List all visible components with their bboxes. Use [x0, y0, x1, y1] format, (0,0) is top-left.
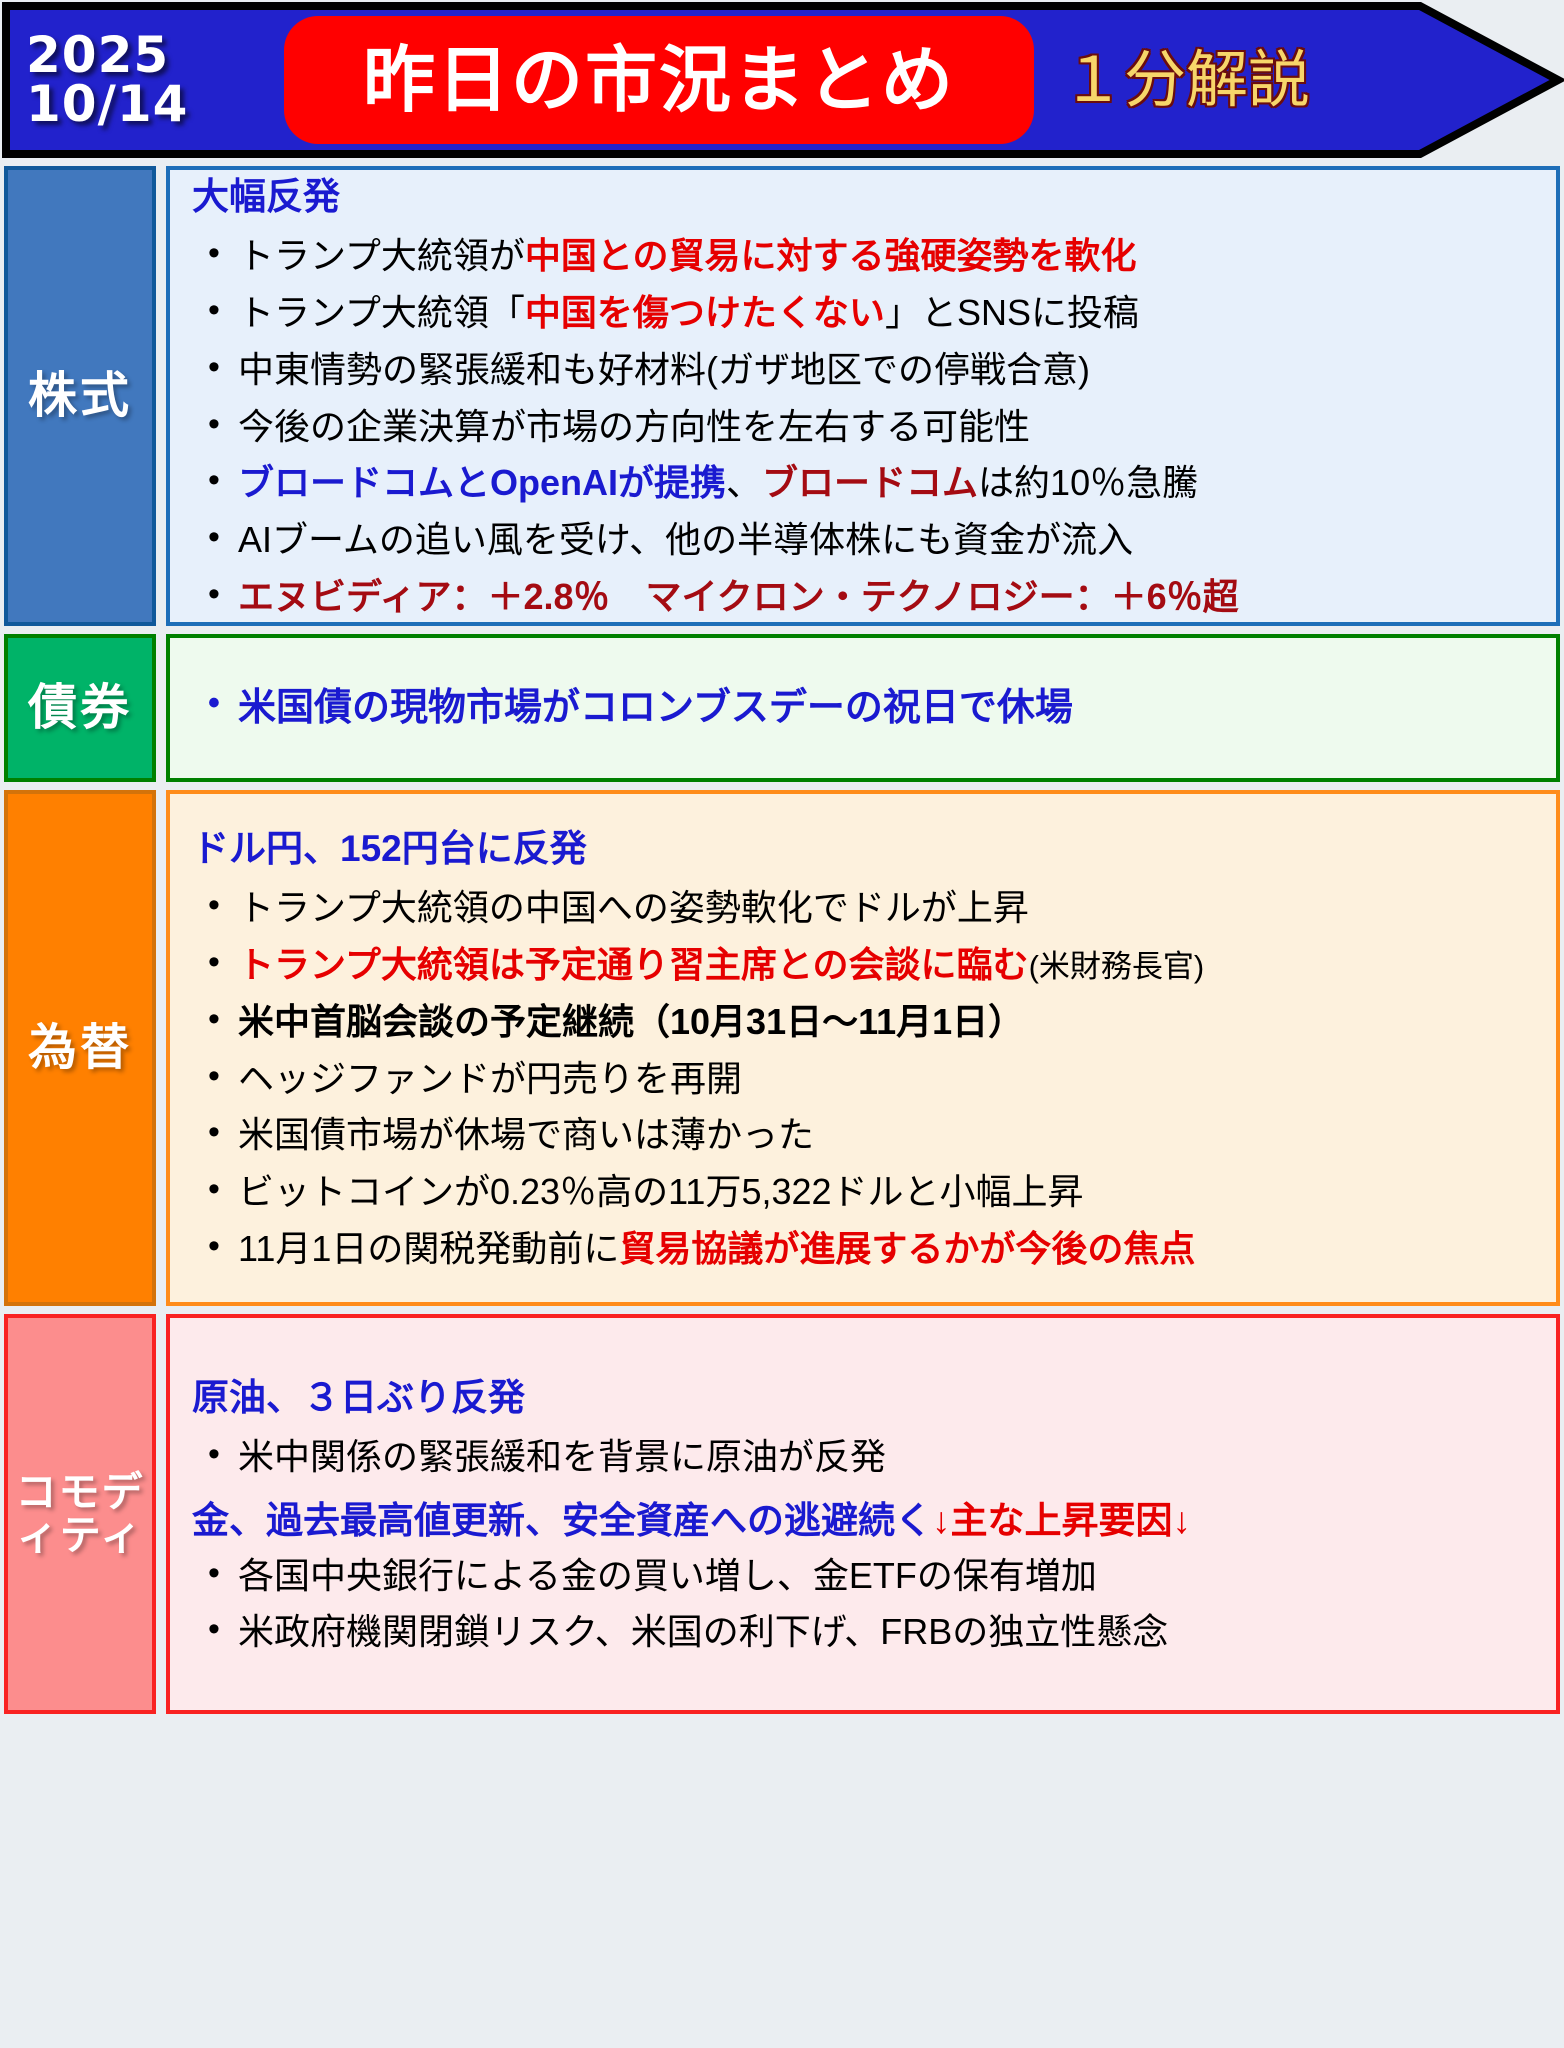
bullet-item: トランプ大統領「中国を傷つけたくない」とSNSに投稿 — [186, 285, 1542, 342]
section-headline-commodity: 原油、３日ぶり反発 — [186, 1367, 1542, 1421]
section-label-commodity-line2: ィティ — [17, 1511, 144, 1559]
bullet-item: 11月1日の関税発動前に貿易協議が進展するかが今後の焦点 — [186, 1221, 1542, 1278]
bullet-item: 米政府機関閉鎖リスク、米国の利下げ、FRBの独立性懸念 — [186, 1604, 1542, 1661]
bullet-item: 米国債市場が休場で商いは薄かった — [186, 1107, 1542, 1164]
bullet-text: 」とSNSに投稿 — [885, 292, 1139, 333]
section-commodity: コモデ ィティ 原油、３日ぶり反発 米中関係の緊張緩和を背景に原油が反発 金、過… — [0, 1314, 1564, 1714]
bullet-text: ヘッジファンドが円売りを再開 — [238, 1058, 742, 1099]
bullet-text: (米財務長官) — [1029, 949, 1205, 984]
bullet-item: ブロードコムとOpenAIが提携、ブロードコムは約10％急騰 — [186, 455, 1542, 512]
bullet-list-commodity-oil: 米中関係の緊張緩和を背景に原油が反発 — [186, 1429, 1542, 1486]
bullet-text: 中東情勢の緊張緩和も好材料(ガザ地区での停戦合意) — [238, 349, 1090, 390]
bullet-text: 米中関係の緊張緩和を背景に原油が反発 — [238, 1436, 886, 1477]
section-label-fx: 為替 — [4, 790, 156, 1306]
header-date-year: 2025 — [26, 31, 280, 81]
bullet-text: トランプ大統領の中国への姿勢軟化でドルが上昇 — [238, 887, 1029, 928]
section-stocks: 株式 大幅反発 トランプ大統領が中国との貿易に対する強硬姿勢を軟化トランプ大統領… — [0, 166, 1564, 626]
bullet-item: エヌビディア：＋2.8％ マイクロン・テクノロジー：＋6％超 — [186, 569, 1542, 626]
bullet-text: エヌビディア：＋2.8％ マイクロン・テクノロジー：＋6％超 — [238, 576, 1239, 617]
header-title-pill: 昨日の市況まとめ — [284, 16, 1034, 144]
section-body-commodity: 原油、３日ぶり反発 米中関係の緊張緩和を背景に原油が反発 金、過去最高値更新、安… — [166, 1314, 1560, 1714]
section-bonds: 債券 米国債の現物市場がコロンブスデーの祝日で休場 — [0, 634, 1564, 782]
bullet-list-commodity-gold: 各国中央銀行による金の買い増し、金ETFの保有増加米政府機関閉鎖リスク、米国の利… — [186, 1548, 1542, 1662]
bullet-item: トランプ大統領が中国との貿易に対する強硬姿勢を軟化 — [186, 228, 1542, 285]
bullet-item: 米中関係の緊張緩和を背景に原油が反発 — [186, 1429, 1542, 1486]
bullet-text: 今後の企業決算が市場の方向性を左右する可能性 — [238, 406, 1030, 447]
section-label-commodity: コモデ ィティ — [4, 1314, 156, 1714]
bullet-item: ヘッジファンドが円売りを再開 — [186, 1051, 1542, 1108]
bullet-list-fx: トランプ大統領の中国への姿勢軟化でドルが上昇トランプ大統領は予定通り習主席との会… — [186, 880, 1542, 1278]
section-headline-stocks: 大幅反発 — [186, 166, 1542, 220]
section-fx: 為替 ドル円、152円台に反発 トランプ大統領の中国への姿勢軟化でドルが上昇トラ… — [0, 790, 1564, 1306]
section-body-stocks: 大幅反発 トランプ大統領が中国との貿易に対する強硬姿勢を軟化トランプ大統領「中国… — [166, 166, 1560, 626]
bullet-text: 米国債の現物市場がコロンブスデーの祝日で休場 — [238, 687, 1073, 729]
section-body-fx: ドル円、152円台に反発 トランプ大統領の中国への姿勢軟化でドルが上昇トランプ大… — [166, 790, 1560, 1306]
section-label-commodity-line1: コモデ — [16, 1468, 145, 1516]
section-headline-fx: ドル円、152円台に反発 — [186, 818, 1542, 872]
bullet-item: 各国中央銀行による金の買い増し、金ETFの保有増加 — [186, 1548, 1542, 1605]
section-body-bonds: 米国債の現物市場がコロンブスデーの祝日で休場 — [166, 634, 1560, 782]
headline2-text: 金、過去最高値更新、安全資産への逃避続く — [192, 1500, 932, 1541]
bullet-item: ビットコインが0.23％高の11万5,322ドルと小幅上昇 — [186, 1164, 1542, 1221]
headline2-text: ↓主な上昇要因↓ — [932, 1500, 1191, 1541]
bullet-text: 各国中央銀行による金の買い増し、金ETFの保有増加 — [238, 1555, 1097, 1596]
bullet-text: ブロードコム — [762, 462, 978, 503]
header-subtitle: １分解説 — [1062, 49, 1310, 111]
bullet-item: 米国債の現物市場がコロンブスデーの祝日で休場 — [186, 678, 1542, 738]
bullet-item: AIブームの追い風を受け、他の半導体株にも資金が流入 — [186, 512, 1542, 569]
bullet-text: トランプ大統領は予定通り習主席との会談に臨む — [238, 944, 1029, 985]
bullet-item: 米中首脳会談の予定継続（10月31日〜11月1日） — [186, 994, 1542, 1051]
bullet-list-bonds: 米国債の現物市場がコロンブスデーの祝日で休場 — [186, 678, 1542, 738]
bullet-text: トランプ大統領が — [238, 235, 525, 276]
bullet-list-stocks: トランプ大統領が中国との貿易に対する強硬姿勢を軟化トランプ大統領「中国を傷つけた… — [186, 228, 1542, 626]
section-headline2-commodity: 金、過去最高値更新、安全資産への逃避続く↓主な上昇要因↓ — [186, 1490, 1542, 1544]
bullet-text: 11月1日の関税発動前に — [238, 1228, 619, 1269]
header-banner: 2025 10/14 昨日の市況まとめ １分解説 — [0, 2, 1564, 158]
bullet-text: 、 — [726, 462, 762, 503]
bullet-text: ビットコインが0.23％高の11万5,322ドルと小幅上昇 — [238, 1171, 1084, 1212]
bullet-item: 今後の企業決算が市場の方向性を左右する可能性 — [186, 399, 1542, 456]
header-date-monthday: 10/14 — [26, 80, 280, 130]
bullet-item: トランプ大統領は予定通り習主席との会談に臨む(米財務長官) — [186, 937, 1542, 994]
bullet-text: 貿易協議が進展するかが今後の焦点 — [619, 1228, 1195, 1269]
bullet-item: 中東情勢の緊張緩和も好材料(ガザ地区での停戦合意) — [186, 342, 1542, 399]
bullet-text: 中国を傷つけたくない — [525, 292, 885, 333]
section-label-bonds: 債券 — [4, 634, 156, 782]
bullet-text: 米中首脳会談の予定継続（10月31日〜11月1日） — [238, 1001, 1024, 1042]
bullet-text: 米国債市場が休場で商いは薄かった — [238, 1114, 814, 1155]
header-date: 2025 10/14 — [0, 31, 280, 130]
bullet-text: は約10％急騰 — [978, 462, 1198, 503]
header-title: 昨日の市況まとめ — [363, 44, 955, 116]
bullet-text: トランプ大統領「 — [238, 292, 525, 333]
bullet-text: 中国との貿易に対する強硬姿勢を軟化 — [525, 235, 1137, 276]
bullet-text: AIブームの追い風を受け、他の半導体株にも資金が流入 — [238, 519, 1133, 560]
section-label-stocks: 株式 — [4, 166, 156, 626]
bullet-text: 米政府機関閉鎖リスク、米国の利下げ、FRBの独立性懸念 — [238, 1611, 1168, 1652]
bullet-item: トランプ大統領の中国への姿勢軟化でドルが上昇 — [186, 880, 1542, 937]
bullet-text: ブロードコムとOpenAIが提携 — [238, 462, 726, 503]
infographic-page: 2025 10/14 昨日の市況まとめ １分解説 株式 大幅反発 トランプ大統領… — [0, 0, 1564, 2048]
